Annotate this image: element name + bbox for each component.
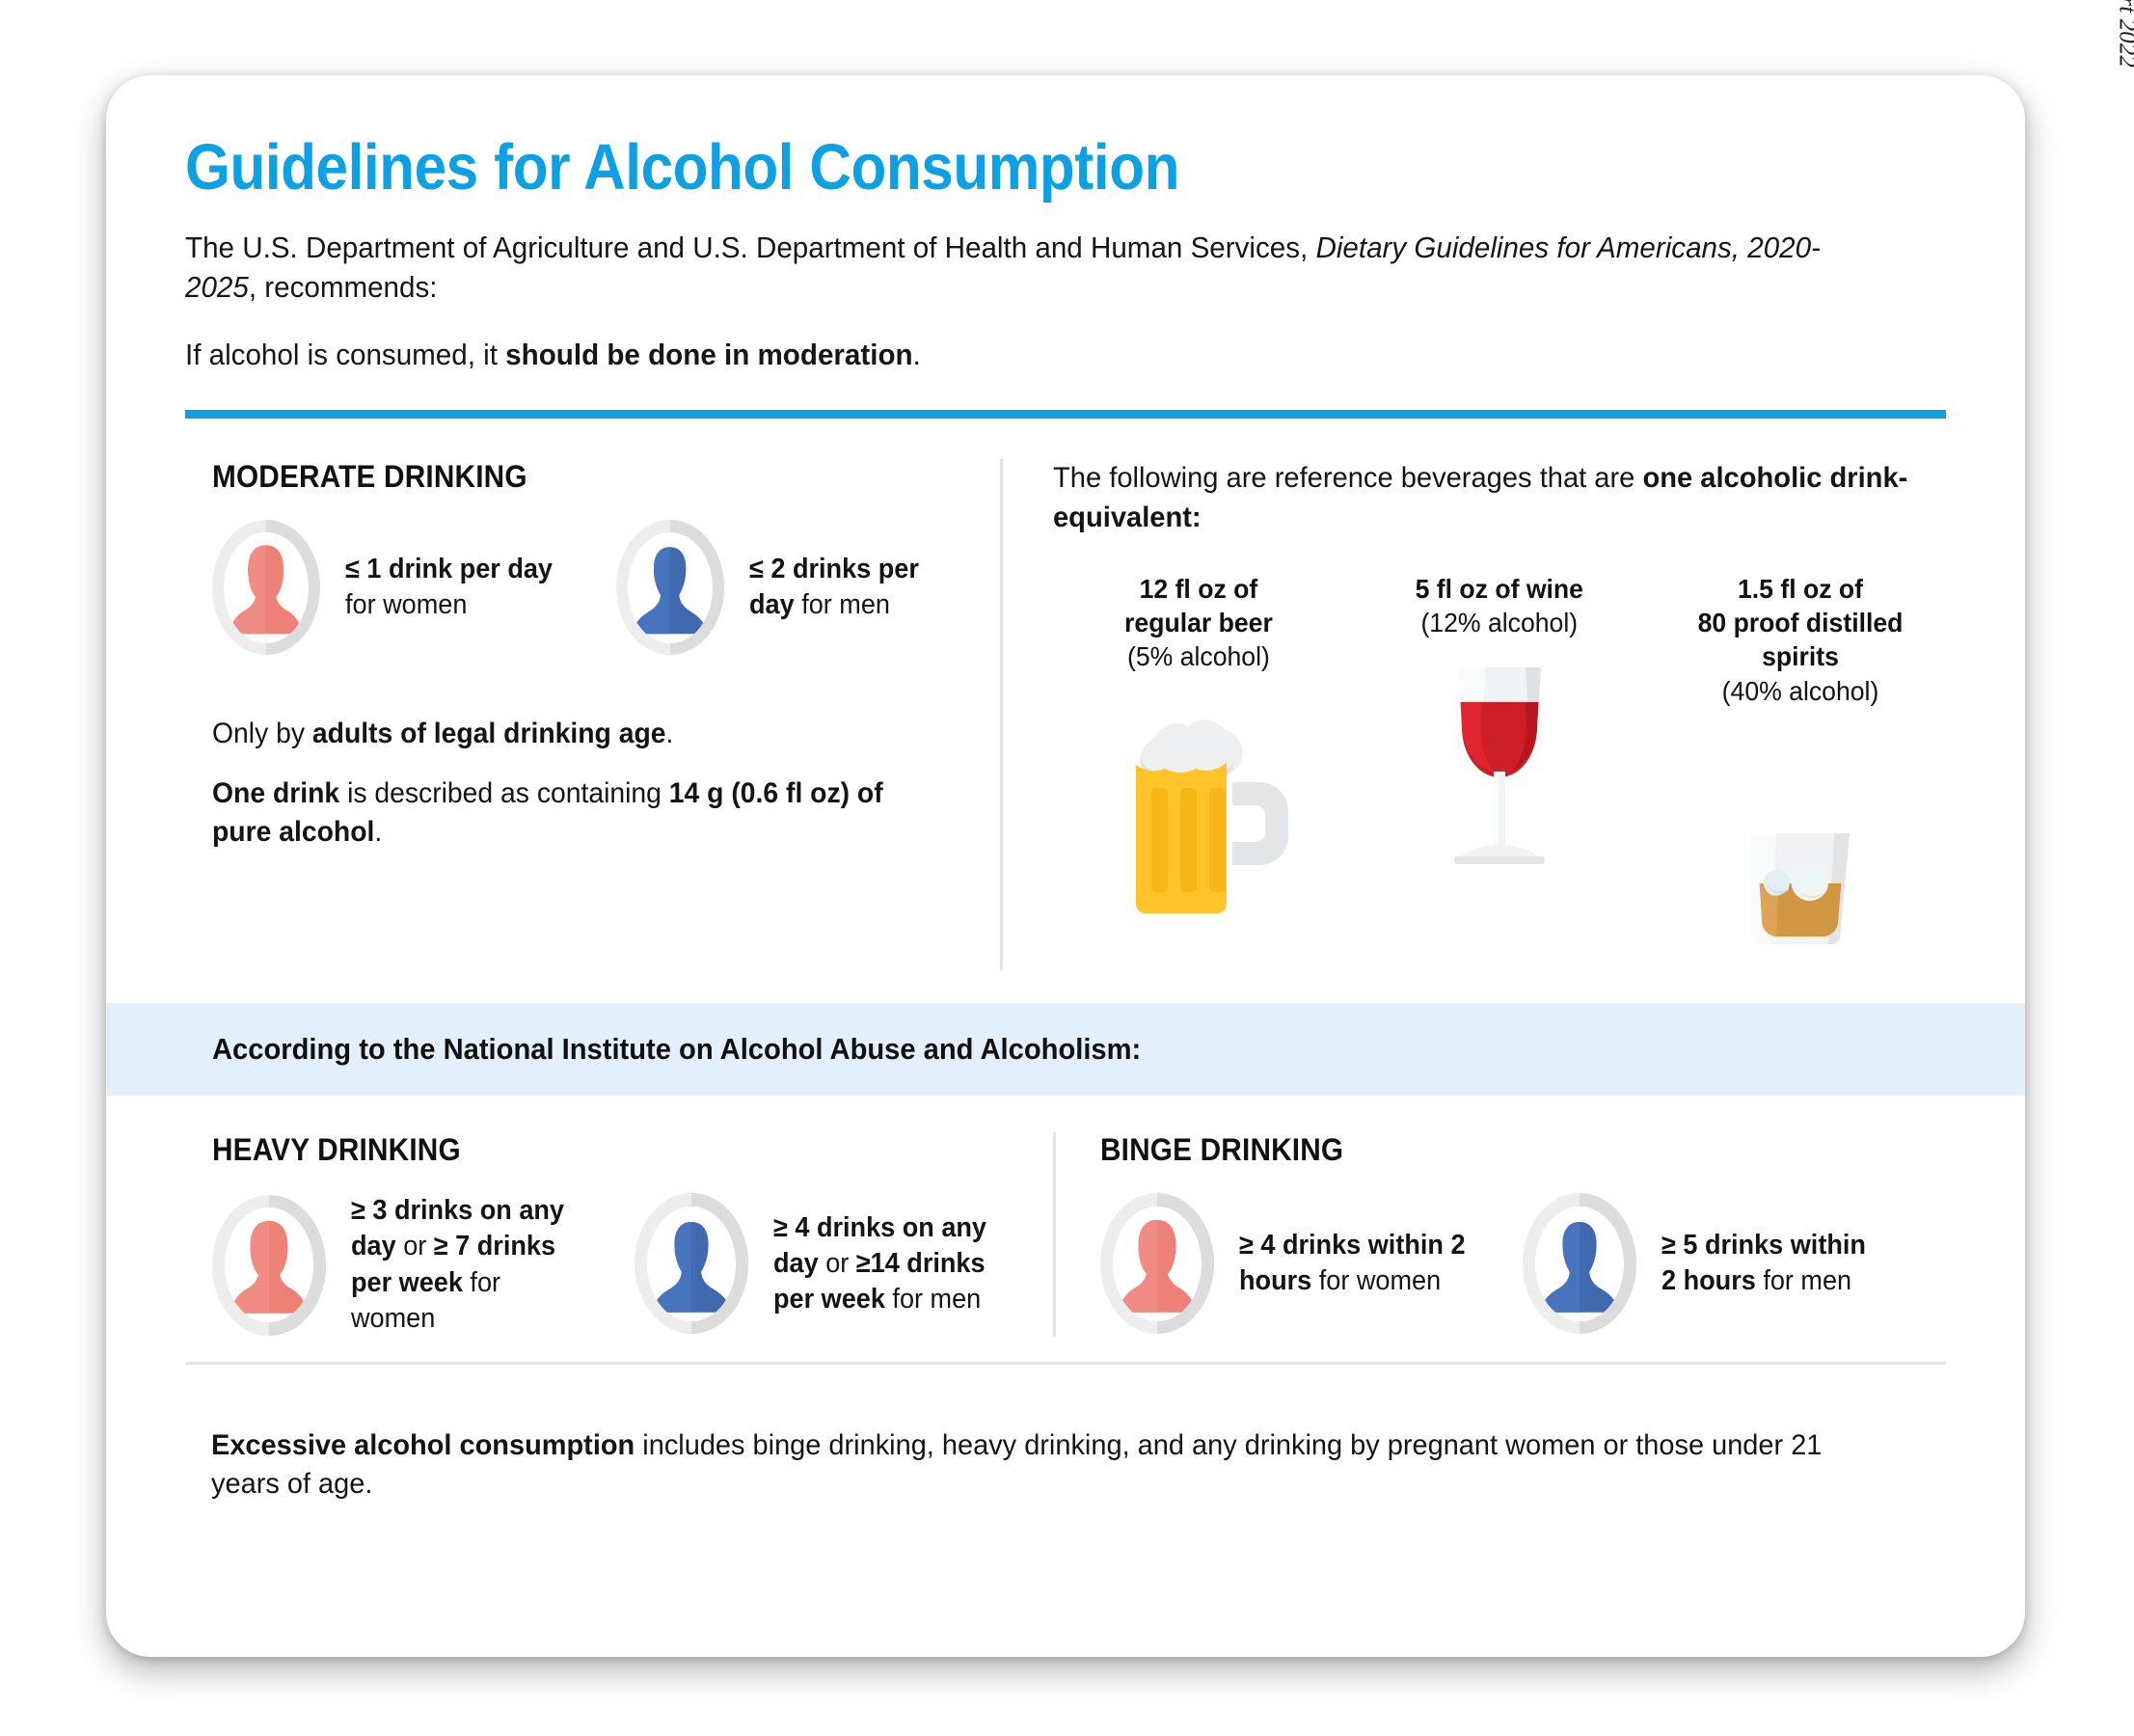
heavy-women-item: ≥ 3 drinks on any day or ≥ 7 drinks per … — [212, 1193, 592, 1336]
beer-art — [1053, 688, 1344, 914]
heavy-men-rest: for men — [885, 1284, 981, 1315]
intro-paragraph: The U.S. Department of Agriculture and U… — [185, 229, 1878, 309]
spirits-name: 80 proof distilled spirits — [1698, 608, 1904, 671]
blue-divider-rule — [185, 410, 1946, 419]
heavy-men-item: ≥ 4 drinks on any day or ≥14 drinks per … — [635, 1193, 1010, 1334]
female-avatar-icon — [212, 1195, 326, 1336]
spirits-pct: (40% alcohol) — [1722, 676, 1879, 706]
female-avatar-icon — [212, 520, 320, 655]
male-avatar-icon — [1523, 1193, 1636, 1334]
heavy-drinking-column: HEAVY DRINKING — [185, 1132, 1053, 1336]
binge-drinking-column: BINGE DRINKING — [1053, 1132, 1946, 1336]
moderate-notes: Only by adults of legal drinking age. On… — [212, 715, 963, 851]
male-avatar-icon — [616, 520, 724, 655]
statement-text-b: . — [913, 339, 921, 371]
legal-age-text-b: . — [666, 718, 674, 749]
legal-age-bold: adults of legal drinking age — [312, 718, 666, 749]
moderate-drinking-pairs: ≤ 1 drink per day for women — [212, 520, 963, 655]
beverage-beer: 12 fl oz of regular beer (5% alcohol) — [1053, 572, 1344, 948]
beverages-column: The following are reference beverages th… — [1000, 459, 1946, 970]
moderate-men-rest: for men — [795, 589, 890, 620]
binge-men-item: ≥ 5 drinks within 2 hours for men — [1523, 1193, 1893, 1334]
statement-bold: should be done in moderation — [505, 339, 912, 371]
spirits-art — [1655, 721, 1946, 948]
heavy-women-text: ≥ 3 drinks on any day or ≥ 7 drinks per … — [351, 1193, 581, 1336]
one-drink-note: One drink is described as containing 14 … — [212, 774, 933, 852]
male-avatar-icon — [635, 1193, 748, 1334]
legal-age-note: Only by adults of legal drinking age. — [212, 715, 933, 753]
beer-amount: 12 fl oz of — [1140, 574, 1258, 604]
beer-mug-icon — [1105, 707, 1293, 914]
binge-men-text: ≥ 5 drinks within 2 hours for men — [1661, 1228, 1881, 1299]
binge-drinking-pairs: ≥ 4 drinks within 2 hours for women — [1100, 1193, 1946, 1334]
intro-text-b: , recommends: — [249, 271, 438, 304]
binge-women-rest: for women — [1311, 1265, 1441, 1296]
wine-glass-icon — [1427, 656, 1572, 880]
footer-bold: Excessive alcohol consumption — [211, 1429, 635, 1461]
spirits-label: 1.5 fl oz of 80 proof distilled spirits … — [1662, 572, 1939, 708]
bottom-section: HEAVY DRINKING — [185, 1132, 1946, 1364]
beer-pct: (5% alcohol) — [1127, 641, 1270, 671]
whiskey-glass-icon — [1738, 827, 1863, 948]
moderate-women-rest: for women — [345, 589, 467, 620]
heavy-drinking-pairs: ≥ 3 drinks on any day or ≥ 7 drinks per … — [212, 1193, 1024, 1336]
wine-pct: (12% alcohol) — [1421, 608, 1579, 637]
heavy-men-mid: or — [819, 1248, 856, 1279]
female-avatar-icon — [1100, 1193, 1214, 1334]
moderate-women-text: ≤ 1 drink per day for women — [345, 552, 562, 623]
beer-name: regular beer — [1124, 608, 1273, 637]
binge-men-rest: for men — [1756, 1265, 1851, 1296]
heavy-men-text: ≥ 4 drinks on any day or ≥14 drinks per … — [773, 1210, 998, 1317]
one-drink-bold: One drink — [212, 777, 339, 809]
legal-age-text-a: Only by — [212, 718, 312, 749]
binge-drinking-heading: BINGE DRINKING — [1100, 1132, 1887, 1168]
top-section: MODERATE DRINKING — [185, 459, 1946, 970]
copyright-notice: ©American Association for Cancer Researc… — [2113, 0, 2134, 68]
binge-women-item: ≥ 4 drinks within 2 hours for women — [1100, 1193, 1480, 1334]
binge-women-text: ≥ 4 drinks within 2 hours for women — [1239, 1228, 1469, 1299]
infographic-root: ©American Association for Cancer Researc… — [0, 0, 2134, 1736]
moderate-men-item: ≤ 2 drinks per day for men — [616, 520, 963, 655]
beverages-intro-a: The following are reference beverages th… — [1053, 462, 1642, 494]
wine-art — [1354, 653, 1645, 880]
wine-amount: 5 fl oz of wine — [1416, 574, 1583, 604]
beverage-spirits: 1.5 fl oz of 80 proof distilled spirits … — [1655, 572, 1946, 948]
one-drink-end: . — [374, 816, 382, 848]
heavy-women-mid: or — [396, 1231, 434, 1261]
page-title: Guidelines for Alcohol Consumption — [185, 135, 1769, 200]
statement-text-a: If alcohol is consumed, it — [185, 339, 505, 371]
beverages-intro: The following are reference beverages th… — [1053, 459, 1919, 536]
intro-text-a: The U.S. Department of Agriculture and U… — [185, 231, 1315, 264]
excessive-consumption-note: Excessive alcohol consumption includes b… — [185, 1394, 1884, 1505]
beverages-row: 12 fl oz of regular beer (5% alcohol) — [1053, 572, 1946, 948]
moderate-women-item: ≤ 1 drink per day for women — [212, 520, 574, 655]
niaaa-banner-text: According to the National Institute on A… — [212, 1032, 1817, 1067]
wine-label: 5 fl oz of wine (12% alcohol) — [1416, 572, 1583, 640]
beer-label: 12 fl oz of regular beer (5% alcohol) — [1124, 572, 1273, 674]
beverage-wine: 5 fl oz of wine (12% alcohol) — [1354, 572, 1645, 948]
one-drink-mid: is described as containing — [339, 777, 669, 809]
moderate-drinking-heading: MODERATE DRINKING — [212, 459, 910, 495]
spirits-amount: 1.5 fl oz of — [1738, 574, 1863, 604]
moderate-men-text: ≤ 2 drinks per day for men — [749, 552, 953, 623]
niaaa-banner: According to the National Institute on A… — [106, 1003, 2025, 1096]
moderation-statement: If alcohol is consumed, it should be don… — [185, 336, 1893, 375]
moderate-drinking-column: MODERATE DRINKING — [185, 459, 1000, 970]
heavy-drinking-heading: HEAVY DRINKING — [212, 1132, 967, 1168]
infographic-card: Guidelines for Alcohol Consumption The U… — [106, 75, 2025, 1657]
moderate-women-bold: ≤ 1 drink per day — [345, 554, 553, 584]
